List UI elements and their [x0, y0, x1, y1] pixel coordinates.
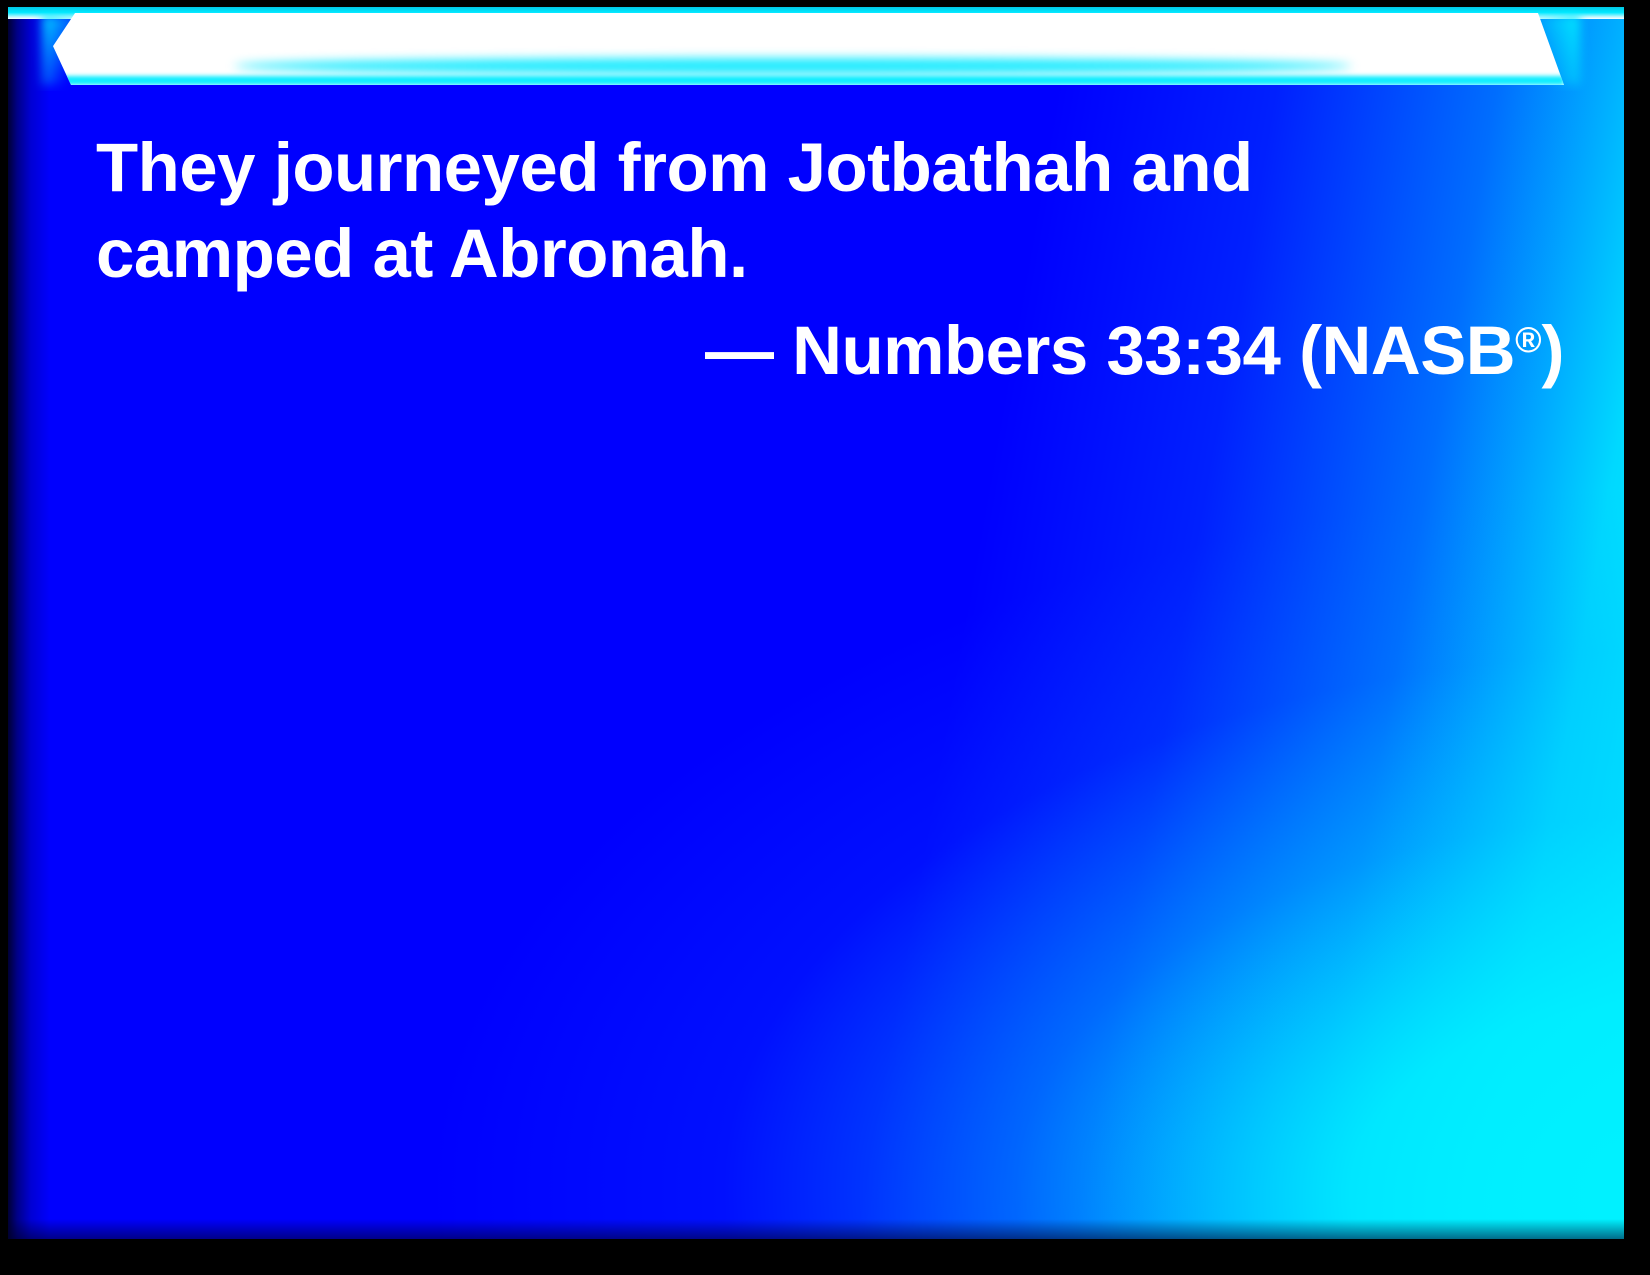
scripture-slide: They journeyed from Jotbathah and camped…	[0, 0, 1650, 1275]
banner-white-bar	[53, 13, 1564, 85]
background-bottom-vignette	[8, 1219, 1624, 1239]
verse-line-2: camped at Abronah.	[96, 211, 1576, 297]
registered-trademark-icon: ®	[1515, 320, 1541, 360]
verse-reference-text: — Numbers 33:34 (NASB	[705, 312, 1515, 389]
verse-text-block: They journeyed from Jotbathah and camped…	[96, 125, 1576, 394]
verse-reference: — Numbers 33:34 (NASB®)	[96, 297, 1576, 394]
top-banner	[8, 7, 1624, 91]
slide-canvas: They journeyed from Jotbathah and camped…	[8, 7, 1624, 1239]
verse-reference-close-paren: )	[1542, 312, 1564, 389]
verse-line-1: They journeyed from Jotbathah and	[96, 125, 1576, 211]
background-left-vignette	[8, 7, 50, 1239]
